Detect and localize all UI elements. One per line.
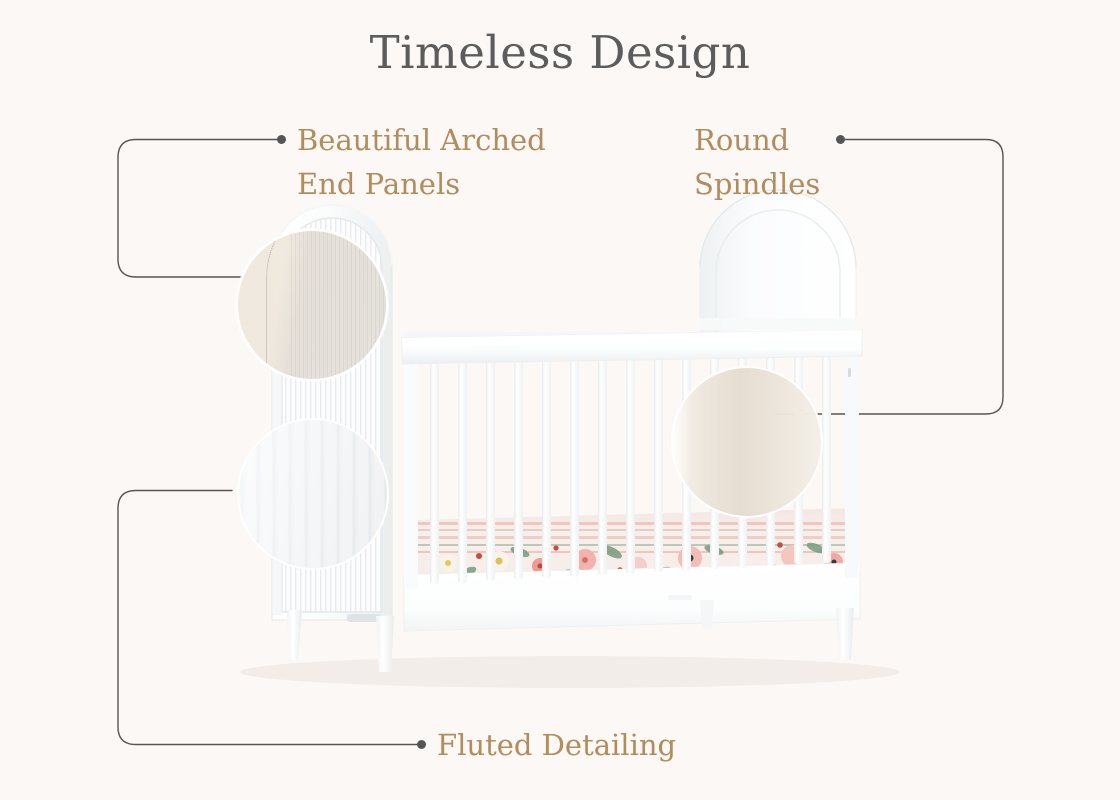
magnifier-arched-end-panels [236, 229, 388, 381]
right-arched-end-panel [698, 190, 858, 340]
magnified-arch-outline [266, 229, 388, 381]
magnifier-fluted-detailing [237, 418, 389, 570]
leg-front-right [376, 616, 394, 672]
magnified-spindle-highlight [673, 368, 691, 516]
callout-label-fluted-detailing: Fluted Detailing [437, 723, 676, 767]
brand-label [347, 614, 381, 622]
product-illustration-crib [0, 0, 1120, 800]
leader-dot-round [836, 135, 845, 144]
front-rail-left-stile [404, 340, 418, 588]
infographic-canvas: Timeless Design [0, 0, 1120, 800]
leg-front-left [287, 610, 302, 660]
magnified-fluting-shading [239, 420, 387, 568]
leader-dot-arched [277, 135, 286, 144]
leg-rear-left [700, 600, 714, 628]
floor-shadow [240, 656, 900, 688]
front-rail-right-stile [845, 334, 859, 578]
magnifier-round-spindles [671, 366, 823, 518]
leg-rear-right [836, 608, 854, 660]
leader-dot-fluted [417, 740, 426, 749]
callout-label-round-spindles: Round Spindles [694, 118, 820, 206]
callout-label-arched-end-panels: Beautiful Arched End Panels [297, 118, 546, 206]
